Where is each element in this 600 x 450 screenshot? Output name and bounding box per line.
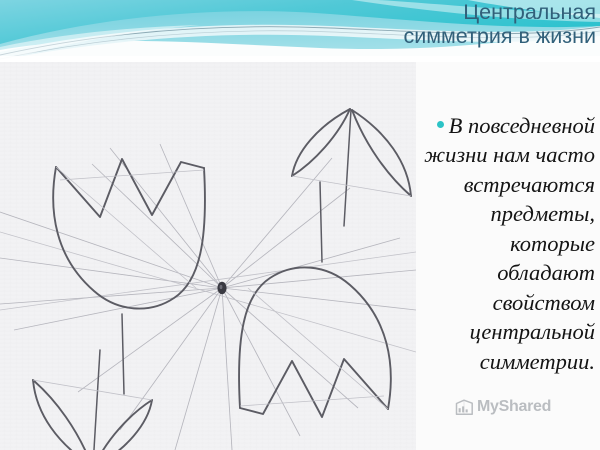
bullet-paragraph: В повседневной жизни нам часто встречают… (416, 111, 598, 377)
body-text-column: В повседневной жизни нам часто встречают… (416, 62, 600, 450)
title-line-1: Центральная (166, 2, 596, 24)
symmetry-sketch-graphic (0, 62, 416, 450)
slide-canvas: Центральная симметрия в жизни (0, 0, 600, 450)
slide-title: Центральная симметрия в жизни (166, 2, 596, 48)
centre-dot-highlight (220, 285, 223, 289)
slide-header-banner: Центральная симметрия в жизни (0, 0, 600, 62)
bullet-dot-icon (437, 121, 444, 128)
paragraph-text: В повседневной жизни нам часто встречают… (424, 113, 595, 374)
title-line-2: симметрия в жизни (166, 26, 596, 48)
pencil-drawing-image (0, 62, 416, 450)
